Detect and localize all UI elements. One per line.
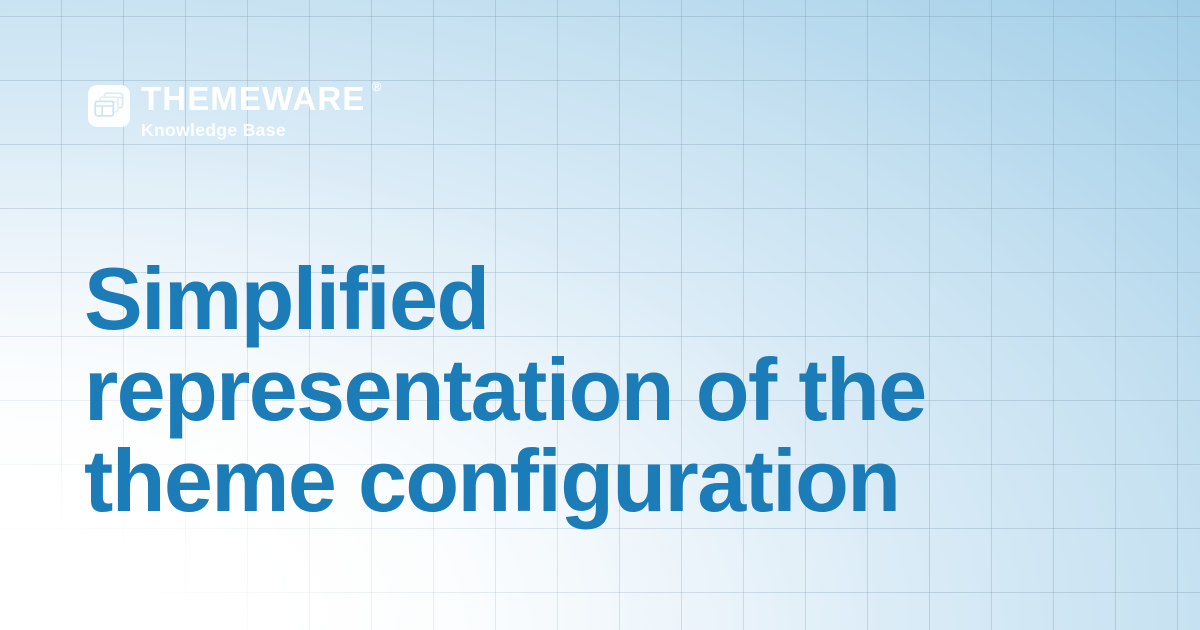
stacked-windows-icon [88, 85, 130, 127]
logo-wordmark-text: THEMEWARE [141, 80, 365, 117]
headline-line-3: theme configuration [84, 435, 1084, 526]
headline-line-2: representation of the [84, 344, 1084, 435]
logo-text-block: THEMEWARE® Knowledge Base [141, 82, 365, 139]
brand-logo: THEMEWARE® Knowledge Base [88, 82, 365, 139]
headline-line-1: Simplified [84, 253, 1084, 344]
og-banner: THEMEWARE® Knowledge Base Simplified rep… [0, 0, 1200, 630]
logo-subtitle: Knowledge Base [141, 122, 365, 140]
registered-trademark-icon: ® [372, 80, 382, 94]
logo-wordmark: THEMEWARE® [141, 82, 365, 117]
page-title: Simplified representation of the theme c… [84, 253, 1084, 526]
